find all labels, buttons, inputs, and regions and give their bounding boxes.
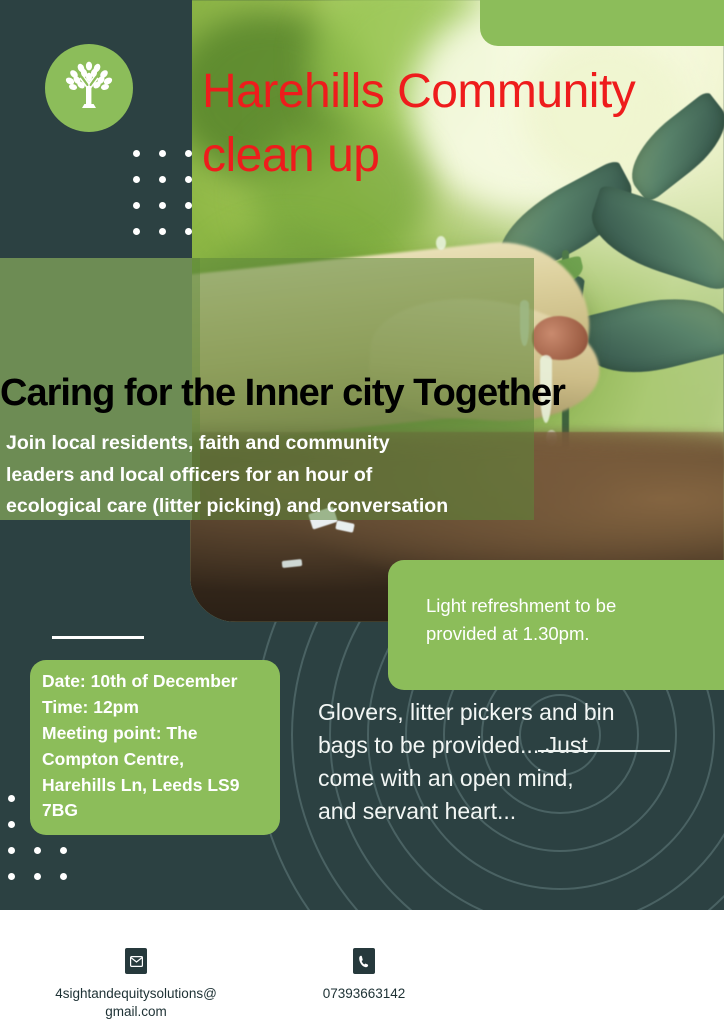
water-drop [436, 236, 446, 250]
fingertip-shape [532, 316, 588, 360]
equipment-note-line-1: Glovers, litter pickers and bin [318, 696, 718, 729]
decorative-divider [52, 636, 144, 639]
subtext-line-1: Join local residents, faith and communit… [6, 428, 566, 460]
event-time: Time: 12pm [42, 695, 280, 721]
event-meeting-point-line-2: Compton Centre, [42, 747, 280, 773]
contact-email-line-2: gmail.com [24, 1003, 248, 1021]
contact-email-line-1: 4sightandequitysolutions@ [24, 985, 248, 1003]
phone-icon [353, 948, 375, 974]
subtext-line-3: ecological care (litter picking) and con… [6, 491, 566, 523]
poster-subtext: Join local residents, faith and communit… [6, 428, 566, 523]
top-right-green-shape [480, 0, 724, 46]
refreshment-line-2: provided at 1.30pm. [426, 620, 724, 648]
contact-email[interactable]: 4sightandequitysolutions@ gmail.com [24, 948, 248, 1021]
organisation-logo [45, 44, 133, 132]
equipment-note-line-4: and servant heart... [318, 795, 718, 828]
event-meeting-point-line-4: 7BG [42, 798, 280, 824]
subtext-line-2: leaders and local officers for an hour o… [6, 460, 566, 492]
tree-icon [62, 58, 116, 119]
contact-phone[interactable]: 07393663142 [258, 948, 470, 1003]
contact-phone-number: 07393663142 [258, 985, 470, 1003]
event-meeting-point-line-1: Meeting point: The [42, 721, 280, 747]
equipment-note-line-2: bags to be provided....Just [318, 729, 718, 762]
refreshment-line-1: Light refreshment to be [426, 592, 724, 620]
poster-title: Harehills Community clean up [202, 60, 722, 188]
equipment-note: Glovers, litter pickers and bin bags to … [318, 696, 718, 828]
decorative-strike-line [538, 750, 670, 752]
footer-bar: 4sightandequitysolutions@ gmail.com 0739… [0, 910, 724, 1024]
dot-grid-top [133, 150, 192, 235]
refreshment-card: Light refreshment to be provided at 1.30… [388, 560, 724, 690]
event-date: Date: 10th of December [42, 669, 280, 695]
equipment-note-line-3: come with an open mind, [318, 762, 718, 795]
event-meeting-point-line-3: Harehills Ln, Leeds LS9 [42, 773, 280, 799]
poster-headline: Caring for the Inner city Together [0, 372, 724, 415]
event-details-card: Date: 10th of December Time: 12pm Meetin… [30, 660, 280, 835]
poster-canvas: Harehills Community clean up Caring for … [0, 0, 724, 1024]
poster-title-line-1: Harehills Community [202, 60, 722, 124]
poster-title-line-2: clean up [202, 124, 722, 188]
envelope-icon [125, 948, 147, 974]
